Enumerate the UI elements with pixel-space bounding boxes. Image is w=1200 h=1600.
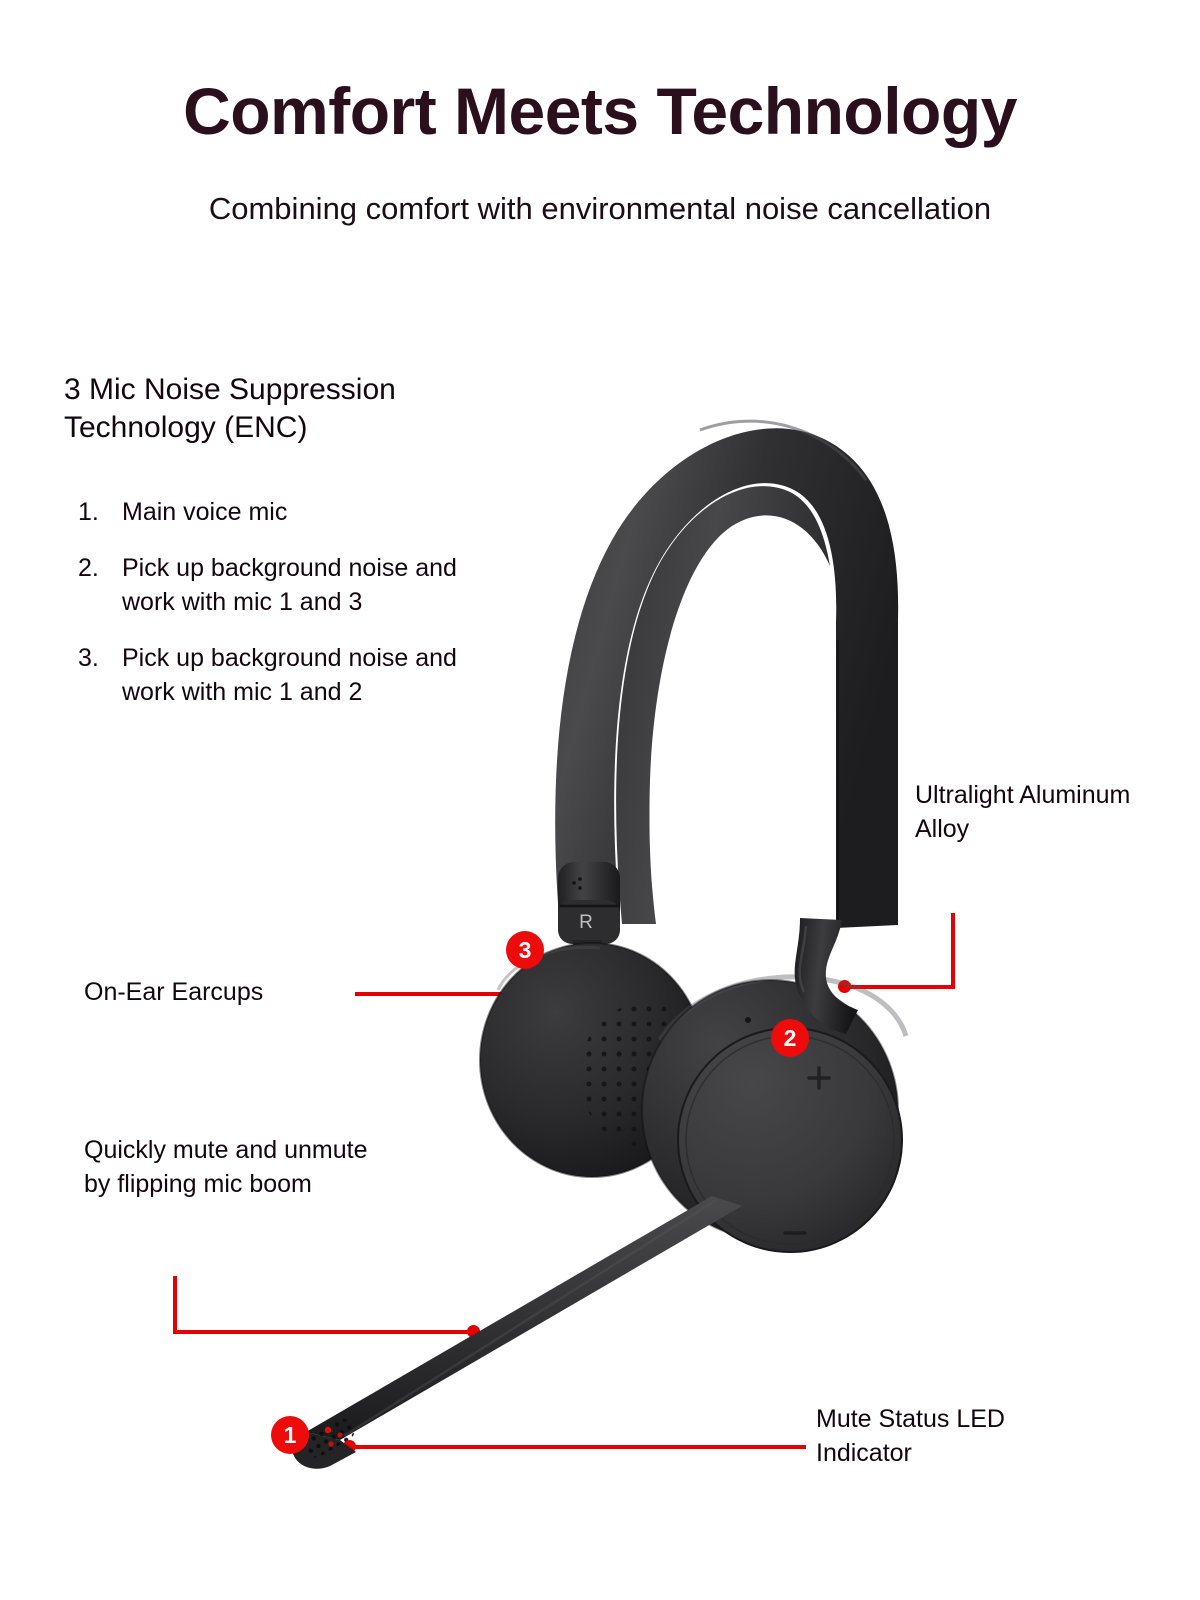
list-item: 1. Main voice mic	[64, 495, 464, 529]
right-earcup-plate	[678, 1028, 902, 1252]
page-title: Comfort Meets Technology	[0, 78, 1200, 144]
list-item-number: 3.	[78, 641, 99, 675]
leader-line-led-indicator	[350, 1445, 806, 1449]
leader-line-aluminum-horizontal	[845, 985, 955, 989]
badge-2: 2	[771, 1019, 809, 1057]
badge-1: 1	[271, 1416, 309, 1454]
list-item-number: 2.	[78, 551, 99, 585]
enc-mic-list: 1. Main voice mic 2. Pick up background …	[64, 495, 464, 731]
leader-dot-aluminum	[838, 980, 851, 993]
list-item-label: Main voice mic	[122, 498, 287, 526]
leader-line-mute-boom-horizontal	[173, 1330, 480, 1334]
list-item-label: Pick up background noise and work with m…	[122, 644, 457, 706]
list-item-label: Pick up background noise and work with m…	[122, 554, 457, 616]
leader-dot-led-indicator	[343, 1440, 356, 1453]
leader-line-aluminum-vertical	[951, 913, 955, 989]
leader-dot-mute-boom	[467, 1325, 480, 1338]
page-subtitle: Combining comfort with environmental noi…	[0, 190, 1200, 227]
mute-status-led	[325, 1427, 343, 1447]
left-earcup	[480, 943, 711, 1177]
callout-label-mute-boom: Quickly mute and unmute by flipping mic …	[84, 1133, 374, 1201]
leader-line-mute-boom-vertical	[173, 1276, 177, 1334]
list-item: 2. Pick up background noise and work wit…	[64, 551, 464, 619]
badge-3: 3	[506, 931, 544, 969]
enc-heading: 3 Mic Noise Suppression Technology (ENC)	[64, 371, 534, 448]
leader-line-on-ear-earcups	[355, 992, 535, 996]
list-item: 3. Pick up background noise and work wit…	[64, 641, 464, 709]
headband	[555, 421, 898, 930]
right-earcup-cushion	[642, 977, 906, 1240]
boom-mic-grille	[302, 1415, 358, 1461]
leader-dot-on-ear-earcups	[528, 986, 541, 999]
callout-label-aluminum-alloy: Ultralight Aluminum Alloy	[915, 778, 1165, 846]
callout-label-on-ear-earcups: On-Ear Earcups	[84, 975, 263, 1009]
infographic-page: Comfort Meets Technology Combining comfo…	[0, 0, 1200, 1600]
volume-up-icon	[809, 1068, 829, 1088]
earcup-yoke	[795, 918, 858, 1034]
left-headband-arm: R	[558, 862, 620, 964]
list-item-number: 1.	[78, 495, 99, 529]
arm-marking-right: R	[579, 912, 593, 933]
callout-label-led-indicator: Mute Status LED Indicator	[816, 1402, 1066, 1470]
mic-pinhole	[745, 1017, 751, 1023]
